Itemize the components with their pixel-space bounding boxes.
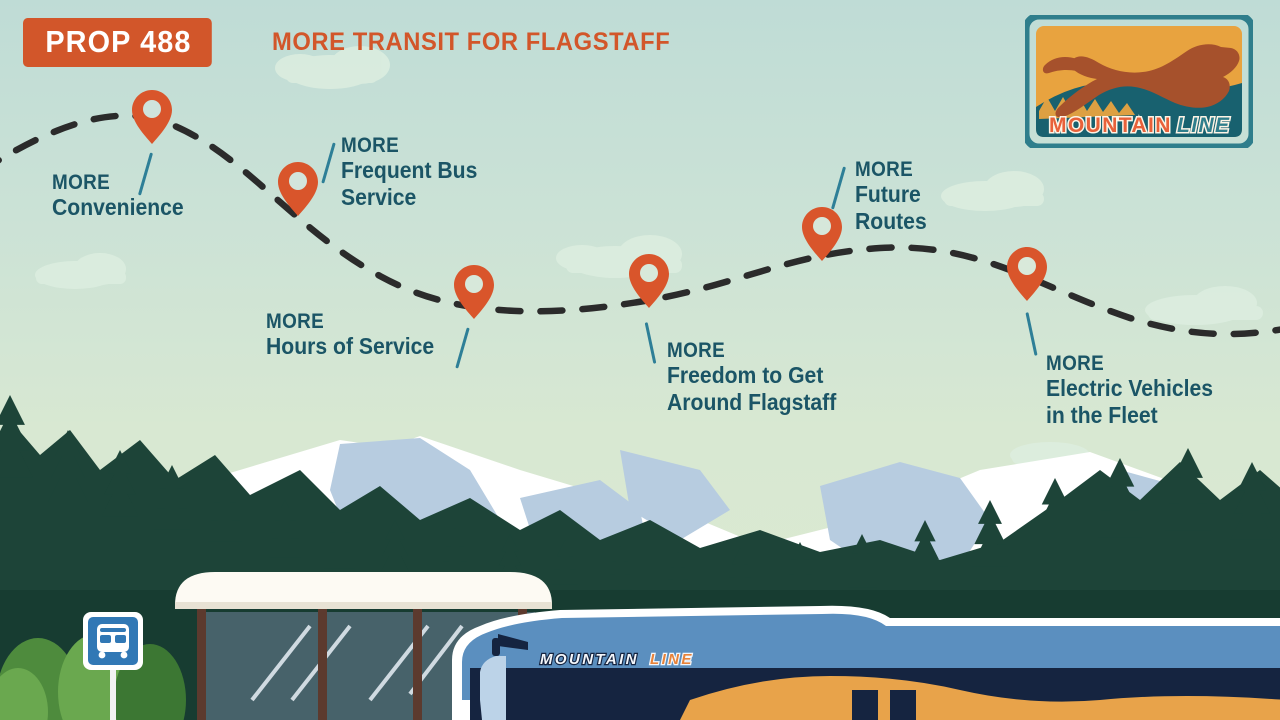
- bus-wordmark-mountain: MOUNTAIN: [540, 651, 639, 668]
- bus-mirror-arm: [492, 638, 500, 656]
- map-pin-electric-vehicles[interactable]: [1005, 245, 1049, 303]
- callout-line: Freedom to Get: [667, 362, 836, 390]
- bus-window: [890, 690, 916, 720]
- map-pin-hours-of-service[interactable]: [452, 263, 496, 321]
- callout-more-label: MORE: [266, 311, 431, 333]
- callout-line: Around Flagstaff: [667, 389, 836, 417]
- callout-line: Hours of Service: [266, 333, 434, 361]
- callout-electric-vehicles[interactable]: MORE Electric Vehicles in the Fleet: [1046, 353, 1228, 430]
- map-pin-freedom[interactable]: [627, 252, 671, 310]
- page-title: MORE TRANSIT FOR FLAGSTAFF: [272, 28, 670, 57]
- callout-freedom[interactable]: MORE Freedom to Get Around Flagstaff: [667, 340, 851, 417]
- callout-line: Electric Vehicles: [1046, 375, 1213, 403]
- shelter-post: [413, 605, 422, 720]
- map-pin-frequent-bus[interactable]: [276, 160, 320, 218]
- bus: MOUNTAIN LINE: [452, 606, 1280, 720]
- bus-windshield: [480, 656, 506, 720]
- shelter-post: [197, 605, 206, 720]
- callout-line: Convenience: [52, 194, 184, 222]
- map-pin-convenience[interactable]: [130, 88, 174, 146]
- callout-line: in the Fleet: [1046, 402, 1213, 430]
- shelter-roof: [175, 572, 552, 605]
- logo-word-mountain: MOUNTAIN: [1049, 114, 1172, 137]
- callout-body: Frequent Bus Service: [341, 157, 477, 212]
- callout-convenience[interactable]: MORE Convenience: [52, 172, 195, 221]
- callout-body: Future Routes: [855, 181, 927, 236]
- callout-line: Frequent Bus: [341, 157, 477, 185]
- map-pin-future-routes[interactable]: [800, 205, 844, 263]
- callout-line: Routes: [855, 208, 927, 236]
- callout-more-label: MORE: [52, 172, 181, 194]
- callout-more-label: MORE: [855, 159, 925, 181]
- callout-frequent-bus[interactable]: MORE Frequent Bus Service: [341, 135, 489, 212]
- callout-line: Future: [855, 181, 927, 209]
- callout-body: Freedom to Get Around Flagstaff: [667, 362, 836, 417]
- callout-more-label: MORE: [341, 135, 474, 157]
- prop-badge: PROP 488: [23, 18, 212, 67]
- callout-future-routes[interactable]: MORE Future Routes: [855, 159, 933, 236]
- bus-window: [852, 690, 878, 720]
- logo-word-line: LINE: [1177, 114, 1230, 137]
- bus-wordmark-line: LINE: [650, 651, 694, 668]
- callout-more-label: MORE: [1046, 353, 1209, 375]
- callout-body: Hours of Service: [266, 333, 434, 361]
- callout-body: Convenience: [52, 194, 184, 222]
- callout-line: Service: [341, 184, 477, 212]
- callout-more-label: MORE: [667, 340, 833, 362]
- shelter-roof-lip: [175, 602, 552, 609]
- infographic-canvas: MOUNTAIN LINE PROP 488 MORE TRANSIT FOR …: [0, 0, 1280, 720]
- shelter-post: [318, 605, 327, 720]
- callout-hours-of-service[interactable]: MORE Hours of Service: [266, 311, 449, 360]
- mountain-line-logo: MOUNTAIN LINE: [1025, 15, 1253, 148]
- callout-body: Electric Vehicles in the Fleet: [1046, 375, 1213, 430]
